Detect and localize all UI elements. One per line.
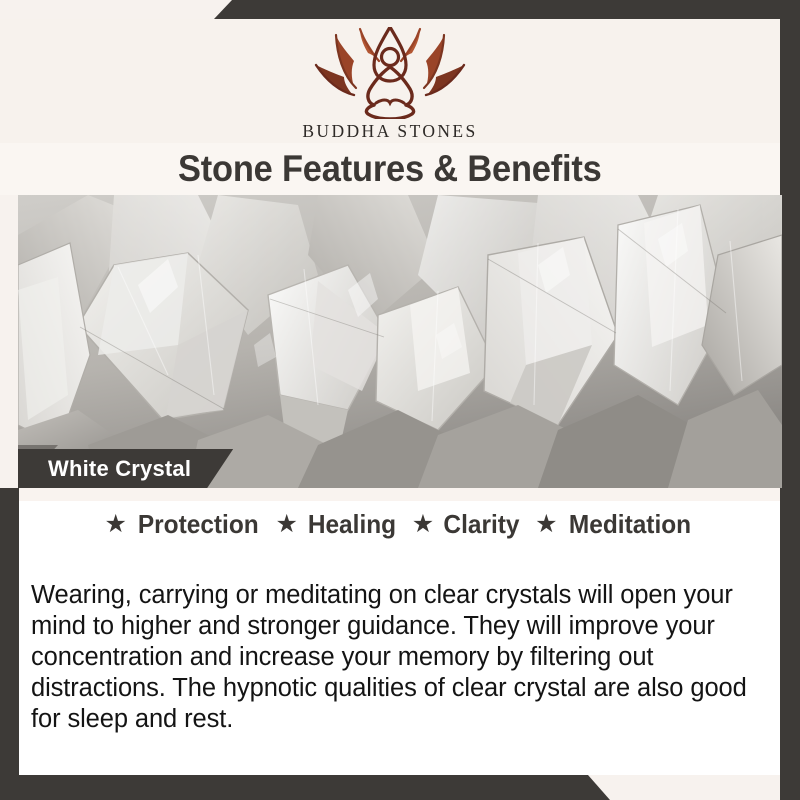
crystal-cluster-illustration bbox=[18, 195, 782, 488]
benefit-item-healing: ★ Healing bbox=[275, 509, 398, 540]
benefit-label: Protection bbox=[138, 509, 259, 540]
benefit-label: Meditation bbox=[568, 509, 690, 540]
crystal-photo bbox=[18, 195, 782, 488]
frame-bar-bottom bbox=[0, 775, 800, 800]
description-text: Wearing, carrying or meditating on clear… bbox=[31, 580, 769, 735]
lotus-meditation-icon bbox=[310, 27, 470, 119]
star-icon: ★ bbox=[412, 512, 434, 537]
photo-caption-text: White Crystal bbox=[48, 456, 191, 482]
benefit-label: Healing bbox=[308, 509, 396, 540]
frame-bar-top bbox=[0, 0, 800, 19]
card-body: ★ Protection ★ Healing ★ Clarity ★ Medit… bbox=[19, 488, 780, 775]
benefit-item-clarity: ★ Clarity bbox=[412, 509, 522, 540]
product-info-card: BUDDHA STONES Stone Features & Benefits bbox=[0, 0, 800, 800]
title-band: Stone Features & Benefits bbox=[0, 143, 780, 195]
star-icon: ★ bbox=[275, 512, 297, 537]
divider-strip bbox=[19, 488, 780, 501]
page-title: Stone Features & Benefits bbox=[178, 148, 602, 190]
benefit-label: Clarity bbox=[444, 509, 520, 540]
star-icon: ★ bbox=[104, 512, 126, 537]
brand-name: BUDDHA STONES bbox=[0, 121, 780, 142]
frame-bar-left bbox=[0, 488, 19, 800]
star-icon: ★ bbox=[535, 512, 557, 537]
benefits-row: ★ Protection ★ Healing ★ Clarity ★ Medit… bbox=[19, 509, 780, 540]
benefit-item-protection: ★ Protection bbox=[104, 509, 262, 540]
brand-logo: BUDDHA STONES bbox=[0, 27, 780, 142]
photo-caption-badge: White Crystal bbox=[18, 449, 233, 488]
benefit-item-meditation: ★ Meditation bbox=[535, 509, 694, 540]
card-header: BUDDHA STONES Stone Features & Benefits bbox=[0, 19, 780, 195]
frame-bar-right bbox=[780, 0, 800, 800]
